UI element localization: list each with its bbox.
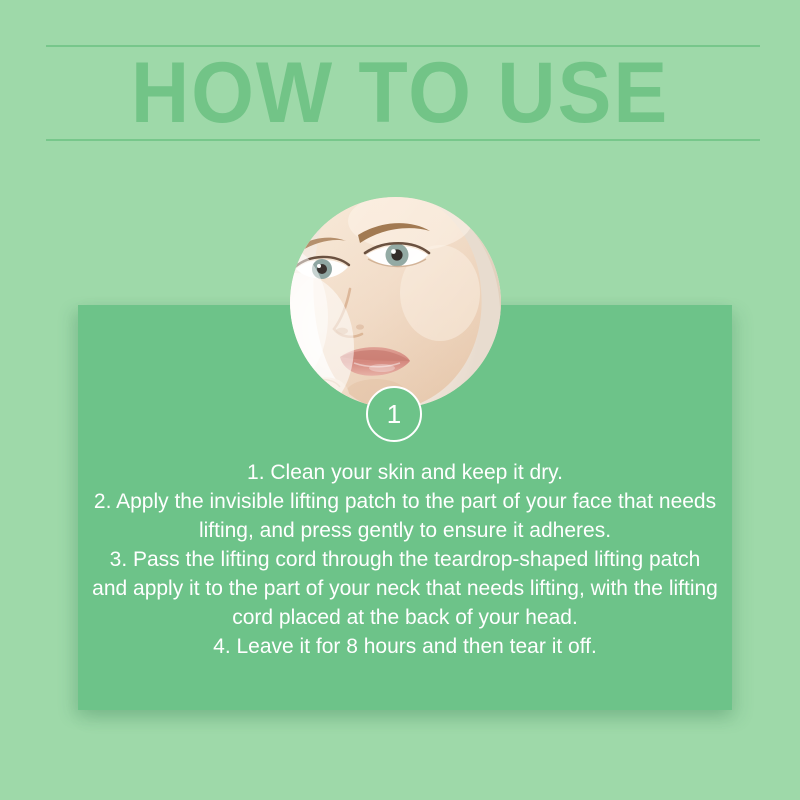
title-rule-bottom (46, 139, 760, 141)
instruction-step: 3. Pass the lifting cord through the tea… (92, 545, 718, 632)
instruction-step: 1. Clean your skin and keep it dry. (92, 458, 718, 487)
instruction-step: 4. Leave it for 8 hours and then tear it… (92, 632, 718, 661)
instruction-step: 2. Apply the invisible lifting patch to … (92, 487, 718, 545)
header: HOW TO USE (0, 0, 800, 170)
page-title: HOW TO USE (24, 50, 776, 136)
instructions-text: 1. Clean your skin and keep it dry. 2. A… (92, 458, 718, 661)
face-illustration-icon (290, 197, 501, 408)
photo-circle-mask (290, 197, 501, 408)
step-photo (290, 197, 501, 408)
step-number-badge: 1 (366, 386, 422, 442)
